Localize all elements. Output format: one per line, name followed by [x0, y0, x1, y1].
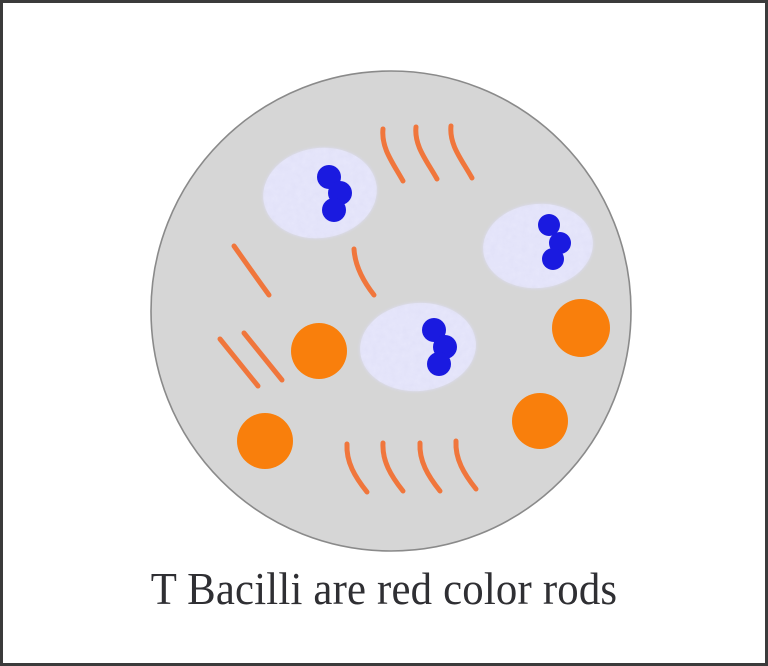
coccus — [542, 248, 564, 270]
orange-blob — [291, 323, 347, 379]
orange-blob — [552, 299, 610, 357]
coccus — [322, 198, 346, 222]
orange-blob — [512, 393, 568, 449]
figure-caption: T Bacilli are red color rods — [30, 561, 739, 617]
coccus — [427, 352, 451, 376]
figure-container: T Bacilli are red color rods — [0, 0, 768, 666]
orange-blob — [237, 413, 293, 469]
